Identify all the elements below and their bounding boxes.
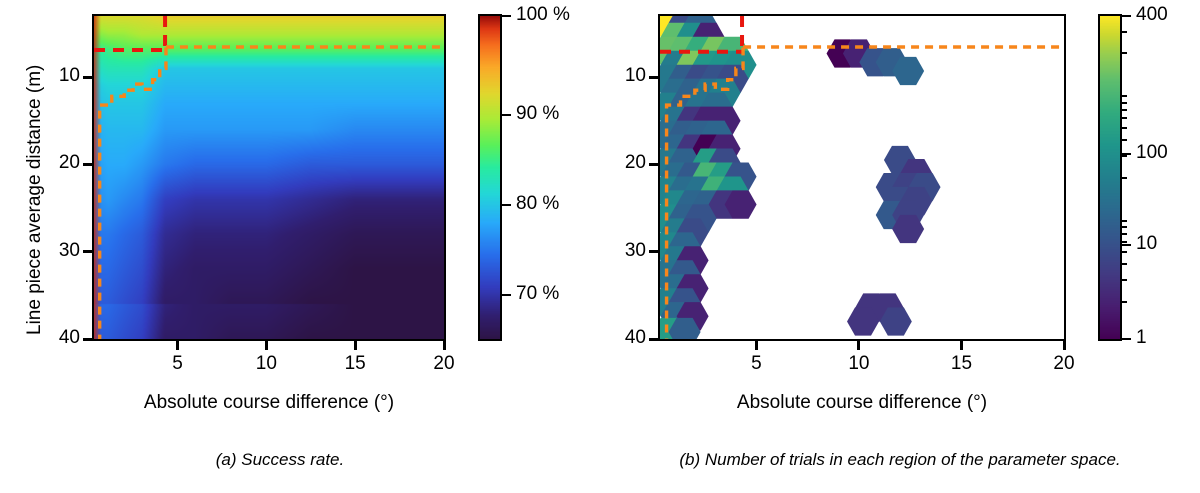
y-tick-label: 40 xyxy=(610,327,646,349)
colorbar-minor-tick xyxy=(1121,31,1127,33)
x-tick-label: 15 xyxy=(947,353,975,375)
colorbar-tick-mark xyxy=(501,15,511,17)
figure-root: Line piece average distance (m) 51015201… xyxy=(0,0,1200,493)
colorbar-minor-tick xyxy=(1121,117,1127,119)
colorbar-tick-label: 90 % xyxy=(516,103,559,125)
colorbar-minor-tick xyxy=(1121,220,1127,222)
y-tick-mark xyxy=(649,250,658,253)
x-tick-label: 10 xyxy=(845,353,873,375)
panel-success-rate: Line piece average distance (m) 51015201… xyxy=(0,0,600,493)
axes-success-rate xyxy=(92,14,446,341)
y-axis-label-panel-a: Line piece average distance (m) xyxy=(24,65,46,335)
x-tick-label: 5 xyxy=(164,353,192,375)
colorbar-minor-tick xyxy=(1121,155,1127,157)
colorbar-tick-mark xyxy=(1121,338,1131,340)
colorbar-minor-tick xyxy=(1121,263,1127,265)
colorbar-minor-tick xyxy=(1121,279,1127,281)
x-tick-mark xyxy=(176,341,179,350)
x-tick-label: 5 xyxy=(742,353,770,375)
colorbar-minor-tick xyxy=(1121,233,1127,235)
x-axis-label-panel-b: Absolute course difference (°) xyxy=(618,392,1106,414)
orange-dashed-threshold xyxy=(667,47,743,339)
colorbar-tick-label: 1 xyxy=(1136,327,1147,349)
x-tick-mark xyxy=(960,341,963,350)
y-tick-mark xyxy=(83,163,92,166)
y-tick-mark xyxy=(649,338,658,341)
y-tick-label: 10 xyxy=(610,65,646,87)
colorbar-minor-tick xyxy=(1121,95,1127,97)
y-tick-label: 10 xyxy=(44,65,80,87)
colorbar-minor-tick xyxy=(1121,226,1127,228)
y-tick-label: 30 xyxy=(610,240,646,262)
colorbar-tick-label: 80 % xyxy=(516,193,559,215)
colorbar-minor-tick xyxy=(1121,52,1127,54)
colorbar-tick-label: 400 xyxy=(1136,4,1168,26)
x-tick-mark xyxy=(443,341,446,350)
x-tick-mark xyxy=(265,341,268,350)
colorbar-tick-label: 10 xyxy=(1136,233,1157,255)
axes-trial-counts xyxy=(658,14,1066,341)
x-tick-label: 10 xyxy=(252,353,280,375)
x-tick-mark xyxy=(354,341,357,350)
colorbar-tick-mark xyxy=(1121,244,1131,246)
x-tick-label: 20 xyxy=(430,353,458,375)
colorbar-minor-tick xyxy=(1121,177,1127,179)
y-tick-label: 20 xyxy=(44,152,80,174)
y-tick-mark xyxy=(83,250,92,253)
y-tick-label: 30 xyxy=(44,240,80,262)
y-tick-label: 20 xyxy=(610,152,646,174)
caption-panel-a: (a) Success rate. xyxy=(0,450,560,470)
y-tick-label: 40 xyxy=(44,327,80,349)
colorbar-tick-mark xyxy=(501,294,511,296)
colorbar-minor-tick xyxy=(1121,102,1127,104)
x-tick-mark xyxy=(857,341,860,350)
colorbar-tick-mark xyxy=(501,114,511,116)
colorbar-trial-counts xyxy=(1098,14,1122,341)
colorbar-minor-tick xyxy=(1121,127,1127,129)
x-axis-label-panel-a: Absolute course difference (°) xyxy=(52,392,486,414)
y-tick-mark xyxy=(83,76,92,79)
orange-dashed-threshold xyxy=(100,47,166,339)
x-tick-label: 15 xyxy=(341,353,369,375)
panel-trial-counts: 510152010203040 Absolute course differen… xyxy=(600,0,1200,493)
caption-panel-b: (b) Number of trials in each region of t… xyxy=(600,450,1200,470)
colorbar-minor-tick xyxy=(1121,251,1127,253)
colorbar-minor-tick xyxy=(1121,109,1127,111)
colorbar-tick-mark xyxy=(501,204,511,206)
colorbar-tick-label: 70 % xyxy=(516,283,559,305)
colorbar-minor-tick xyxy=(1121,301,1127,303)
colorbar-minor-tick xyxy=(1121,241,1127,243)
y-tick-mark xyxy=(649,163,658,166)
y-tick-mark xyxy=(649,76,658,79)
x-tick-mark xyxy=(1063,341,1066,350)
y-tick-mark xyxy=(83,338,92,341)
colorbar-tick-label: 100 % xyxy=(516,4,570,26)
colorbar-tick-mark xyxy=(1121,15,1131,17)
x-tick-mark xyxy=(755,341,758,350)
x-tick-label: 20 xyxy=(1050,353,1078,375)
colorbar-minor-tick xyxy=(1121,139,1127,141)
colorbar-success-rate xyxy=(478,14,502,341)
colorbar-tick-label: 100 xyxy=(1136,142,1168,164)
